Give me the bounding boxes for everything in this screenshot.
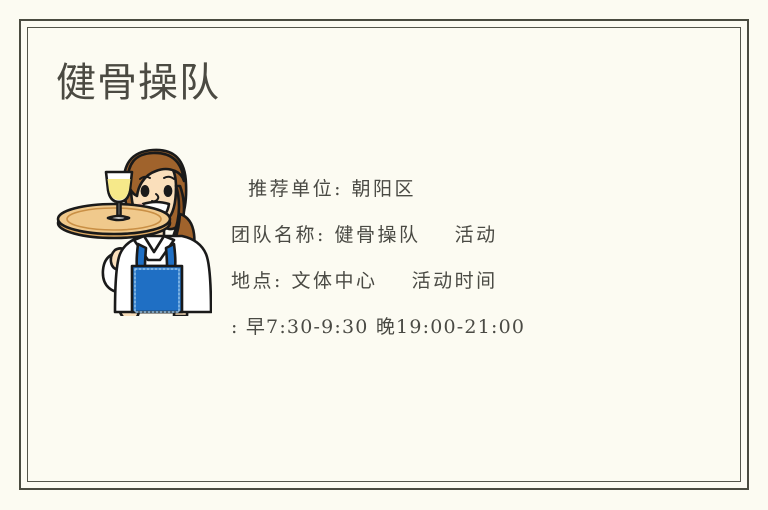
page-title: 健骨操队 <box>56 60 220 106</box>
info-line-activity-time: : 早7:30-9:30 晚19:00-21:00 <box>231 304 651 350</box>
left-eye <box>141 185 150 197</box>
info-line-activity-place: 地点: 文体中心 活动时间 <box>231 258 651 304</box>
info-line-recommending-unit: 推荐单位: 朝阳区 <box>231 166 651 212</box>
apron-body <box>132 266 182 312</box>
waitress-with-tray-illustration <box>52 136 212 316</box>
wine-glass-base <box>108 216 129 220</box>
right-eye <box>164 185 173 197</box>
team-info-text-block: 推荐单位: 朝阳区 团队名称: 健骨操队 活动 地点: 文体中心 活动时间 : … <box>231 166 651 350</box>
wine-glass-stem <box>118 202 121 216</box>
team-info-card: 健骨操队 <box>0 0 768 510</box>
info-line-team-name: 团队名称: 健骨操队 活动 <box>231 212 651 258</box>
